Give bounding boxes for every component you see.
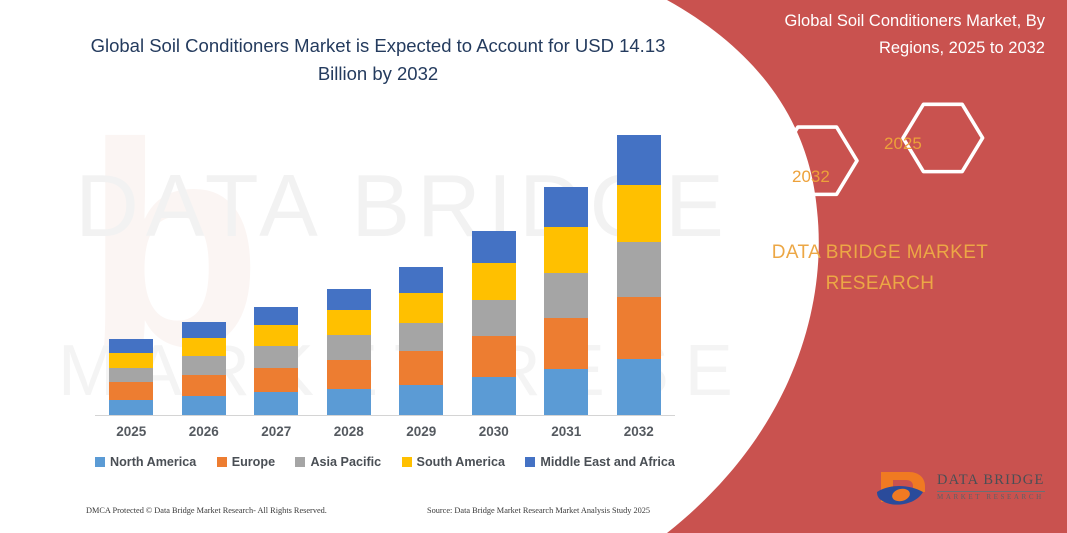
bar-segment-2032-asia-pacific xyxy=(617,242,661,297)
bar-segment-2029-north-america xyxy=(399,385,443,416)
bar-segment-2027-europe xyxy=(254,368,298,393)
bar-segment-2025-north-america xyxy=(109,400,153,416)
bar-segment-2026-asia-pacific xyxy=(182,356,226,375)
bar-segment-2030-middle-east-and-africa xyxy=(472,231,516,263)
x-label-2026: 2026 xyxy=(168,424,240,439)
bar-2025 xyxy=(109,339,153,416)
legend-item-south-america[interactable]: South America xyxy=(402,455,505,469)
legend-label: Asia Pacific xyxy=(310,455,381,469)
panel-title: Global Soil Conditioners Market, By Regi… xyxy=(715,8,1045,62)
bar-segment-2031-middle-east-and-africa xyxy=(544,187,588,227)
bar-segment-2025-middle-east-and-africa xyxy=(109,339,153,353)
bar-segment-2031-asia-pacific xyxy=(544,273,588,318)
bar-2026 xyxy=(182,322,226,416)
bar-segment-2031-north-america xyxy=(544,369,588,416)
logo-text-primary: DATA BRIDGE xyxy=(937,472,1045,489)
bar-segment-2027-middle-east-and-africa xyxy=(254,307,298,326)
bar-segment-2026-middle-east-and-africa xyxy=(182,322,226,338)
bar-segment-2028-north-america xyxy=(327,389,371,416)
logo-divider xyxy=(937,491,1045,492)
data-bridge-logo: DATA BRIDGE MARKET RESEARCH xyxy=(875,466,1045,514)
footer: DMCA Protected © Data Bridge Market Rese… xyxy=(0,506,740,526)
x-label-2032: 2032 xyxy=(603,424,675,439)
bar-segment-2032-middle-east-and-africa xyxy=(617,135,661,185)
hexagon-label-2032: 2032 xyxy=(792,167,830,187)
x-label-2029: 2029 xyxy=(385,424,457,439)
logo-b-mark-icon xyxy=(875,466,933,512)
bar-2028 xyxy=(327,289,371,416)
bar-segment-2027-asia-pacific xyxy=(254,346,298,367)
bar-segment-2028-europe xyxy=(327,360,371,389)
infographic-canvas: b DATA BRIDGE MARKET RESEARCH Global Soi… xyxy=(0,0,1067,533)
stacked-bar-chart xyxy=(95,110,675,416)
bar-segment-2030-south-america xyxy=(472,263,516,300)
legend-swatch-icon xyxy=(295,457,305,467)
bar-segment-2028-middle-east-and-africa xyxy=(327,289,371,310)
legend-item-europe[interactable]: Europe xyxy=(217,455,275,469)
bar-segment-2031-europe xyxy=(544,318,588,369)
legend-label: North America xyxy=(110,455,196,469)
bar-segment-2025-asia-pacific xyxy=(109,368,153,383)
bar-segment-2030-north-america xyxy=(472,377,516,416)
bar-segment-2030-europe xyxy=(472,336,516,377)
bar-segment-2029-europe xyxy=(399,351,443,385)
bar-2032 xyxy=(617,135,661,416)
legend-label: South America xyxy=(417,455,505,469)
bar-2027 xyxy=(254,307,298,416)
legend-swatch-icon xyxy=(217,457,227,467)
bar-segment-2028-asia-pacific xyxy=(327,335,371,360)
bar-segment-2032-europe xyxy=(617,297,661,359)
legend-swatch-icon xyxy=(95,457,105,467)
bar-2029 xyxy=(399,267,443,416)
x-label-2031: 2031 xyxy=(530,424,602,439)
logo-text-secondary: MARKET RESEARCH xyxy=(937,493,1044,501)
footer-copyright: DMCA Protected © Data Bridge Market Rese… xyxy=(86,506,327,515)
hexagon-badges: 2025 2032 xyxy=(747,92,1027,212)
x-axis-line xyxy=(95,415,675,416)
bar-segment-2026-north-america xyxy=(182,396,226,416)
legend-item-north-america[interactable]: North America xyxy=(95,455,196,469)
bar-segment-2030-asia-pacific xyxy=(472,300,516,336)
bar-segment-2032-north-america xyxy=(617,359,661,416)
bar-segment-2027-south-america xyxy=(254,325,298,346)
x-label-2025: 2025 xyxy=(95,424,167,439)
legend-label: Middle East and Africa xyxy=(540,455,675,469)
bar-segment-2029-south-america xyxy=(399,293,443,323)
hexagon-label-2025: 2025 xyxy=(884,134,922,154)
x-label-2030: 2030 xyxy=(458,424,530,439)
bar-segment-2025-south-america xyxy=(109,353,153,368)
footer-source: Source: Data Bridge Market Research Mark… xyxy=(427,506,650,515)
legend-label: Europe xyxy=(232,455,275,469)
legend-item-middle-east-and-africa[interactable]: Middle East and Africa xyxy=(525,455,675,469)
bar-segment-2029-asia-pacific xyxy=(399,323,443,352)
brand-name: DATA BRIDGE MARKET RESEARCH xyxy=(730,237,1030,299)
bar-segment-2031-south-america xyxy=(544,227,588,273)
bar-segment-2026-south-america xyxy=(182,338,226,357)
bar-2030 xyxy=(472,231,516,416)
x-label-2028: 2028 xyxy=(313,424,385,439)
legend-swatch-icon xyxy=(525,457,535,467)
legend-item-asia-pacific[interactable]: Asia Pacific xyxy=(295,455,381,469)
bar-segment-2027-north-america xyxy=(254,392,298,416)
x-axis-labels: 20252026202720282029203020312032 xyxy=(95,424,675,444)
chart-legend: North AmericaEuropeAsia PacificSouth Ame… xyxy=(95,455,675,469)
legend-swatch-icon xyxy=(402,457,412,467)
bar-segment-2032-south-america xyxy=(617,185,661,242)
x-label-2027: 2027 xyxy=(240,424,312,439)
chart-title: Global Soil Conditioners Market is Expec… xyxy=(78,32,678,88)
bar-2031 xyxy=(544,187,588,416)
bar-segment-2029-middle-east-and-africa xyxy=(399,267,443,293)
bar-segment-2026-europe xyxy=(182,375,226,396)
bar-segment-2025-europe xyxy=(109,382,153,399)
bar-segment-2028-south-america xyxy=(327,310,371,335)
right-panel: Global Soil Conditioners Market, By Regi… xyxy=(667,0,1067,533)
